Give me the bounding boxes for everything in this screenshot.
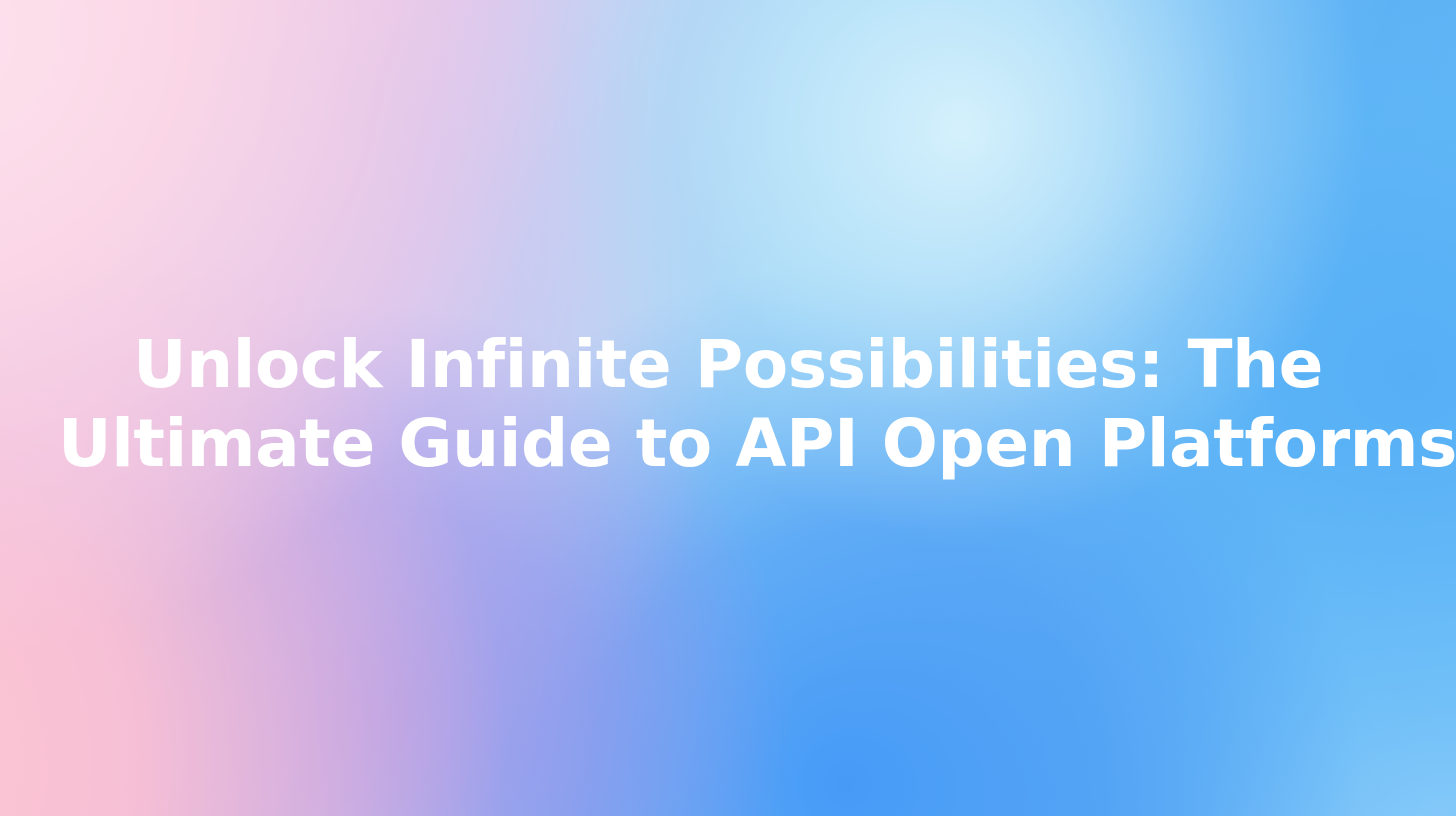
page-title-line-2: Ultimate Guide to API Open Platforms! xyxy=(58,405,1398,484)
page-title: Unlock Infinite Possibilities: The Ultim… xyxy=(58,326,1398,489)
page-title-line-1: Unlock Infinite Possibilities: The xyxy=(58,326,1398,405)
hero-banner: Unlock Infinite Possibilities: The Ultim… xyxy=(0,0,1456,816)
